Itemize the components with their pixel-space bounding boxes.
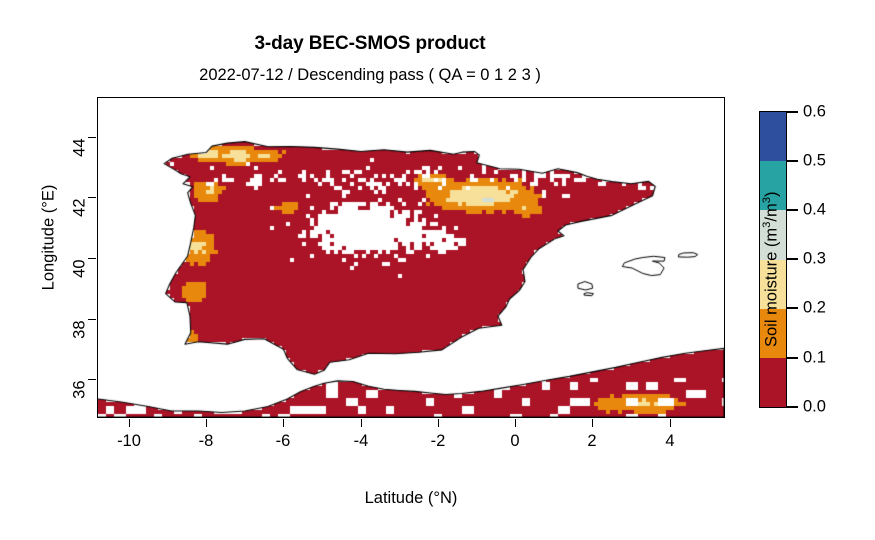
colorbar-tick-mark (787, 160, 798, 162)
figure-title: 3-day BEC-SMOS product (0, 33, 740, 55)
x-tick-mark (515, 419, 516, 427)
colorbar-label: 0.3 (803, 250, 826, 269)
colorbar-tick-mark (787, 111, 798, 113)
colorbar-title-mid: /m (762, 203, 780, 221)
x-tick-mark (438, 419, 439, 427)
colorbar-title-suffix: ) (762, 191, 780, 197)
colorbar-tick-mark (787, 258, 798, 260)
x-tick-label: -6 (253, 432, 313, 451)
colorbar-tick-mark (787, 209, 798, 211)
map-plot-area[interactable] (97, 97, 725, 418)
soil-moisture-raster (98, 98, 724, 417)
colorbar-label: 0.4 (803, 201, 826, 220)
figure-subtitle: 2022-07-12 / Descending pass ( QA = 0 1 … (0, 66, 740, 85)
x-tick-label: 0 (485, 432, 545, 451)
x-tick-label: -10 (99, 432, 159, 451)
colorbar-label: 0.6 (803, 103, 826, 122)
colorbar-tick-mark (787, 357, 798, 359)
x-tick-mark (129, 419, 130, 427)
x-tick-mark (592, 419, 593, 427)
x-tick-mark (670, 419, 671, 427)
colorbar-title-exp-1: 3 (761, 222, 773, 228)
x-tick-label: 4 (640, 432, 700, 451)
colorbar-title-prefix: Soil moisture (m (762, 228, 780, 347)
colorbar-tick-mark (787, 406, 798, 408)
x-tick-mark (283, 419, 284, 427)
colorbar-tick-mark (787, 307, 798, 309)
figure-root: 3-day BEC-SMOS product 2022-07-12 / Desc… (0, 0, 875, 540)
colorbar-title-exp-2: 3 (761, 197, 773, 203)
x-tick-mark (361, 419, 362, 427)
colorbar-label: 0.1 (803, 349, 826, 368)
colorbar-title: Soil moisture (m3/m3) (761, 149, 782, 389)
y-axis-title: Longitude (°E) (40, 78, 59, 398)
colorbar-label: 0.2 (803, 299, 826, 318)
x-tick-label: -4 (331, 432, 391, 451)
colorbar-label: 0.0 (803, 398, 826, 417)
x-tick-label: -2 (408, 432, 468, 451)
x-tick-mark (206, 419, 207, 427)
y-tick-label: 44 (71, 139, 90, 219)
x-axis-title: Latitude (°N) (97, 489, 725, 508)
x-tick-label: 2 (562, 432, 622, 451)
colorbar-label: 0.5 (803, 152, 826, 171)
x-tick-label: -8 (176, 432, 236, 451)
